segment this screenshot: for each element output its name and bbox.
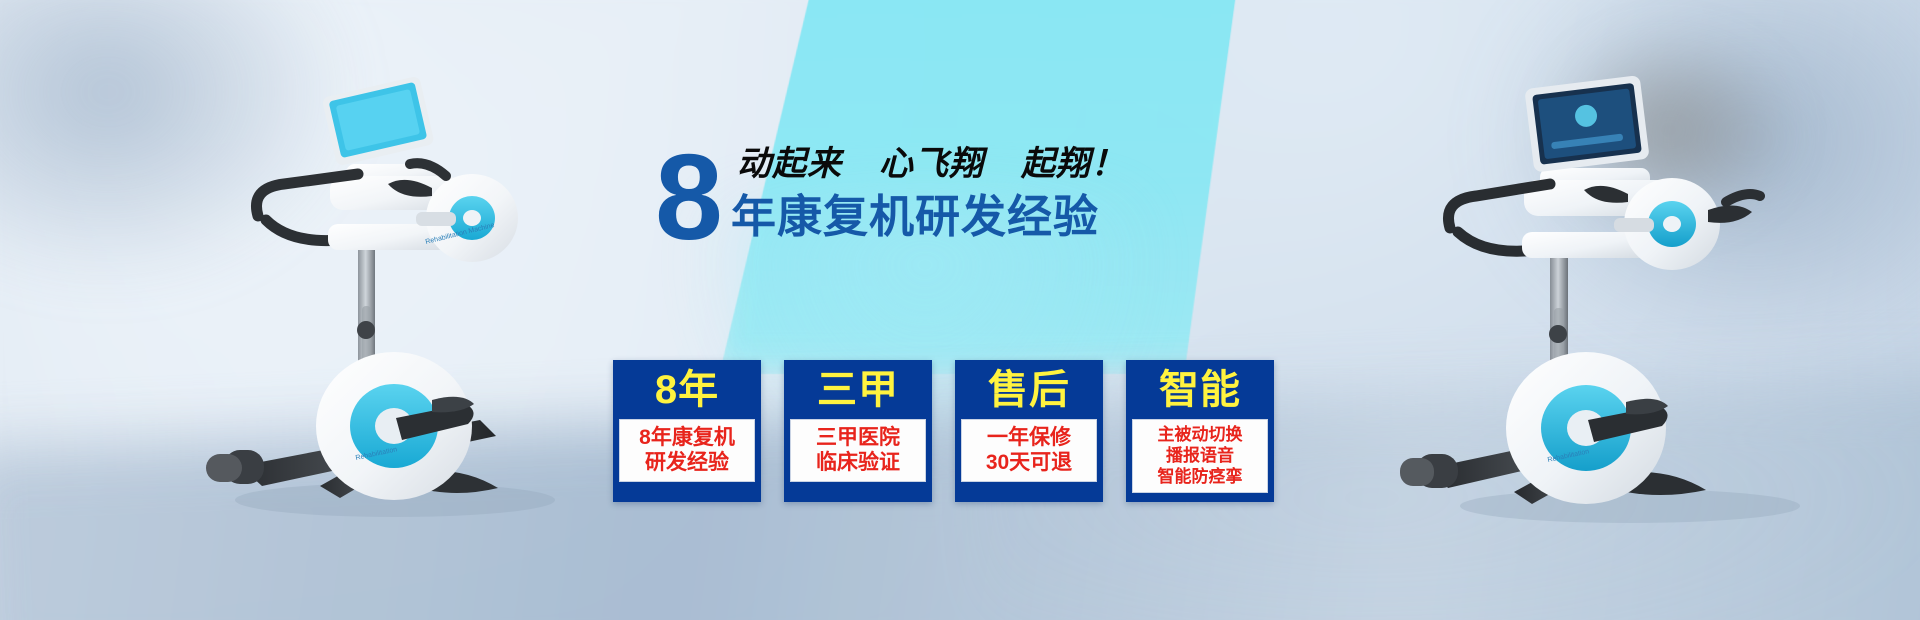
feature-line: 主被动切换 [1135, 424, 1265, 445]
feature-box-smart[interactable]: 智能 主被动切换 播报语音 智能防痉挛 [1126, 360, 1274, 502]
feature-line: 临床验证 [793, 450, 923, 475]
slogan-part-2: 心飞翔 [879, 145, 984, 183]
feature-line: 一年保修 [964, 425, 1094, 450]
feature-body: 8年康复机 研发经验 [619, 419, 755, 482]
feature-title: 三甲 [790, 366, 926, 414]
feature-line: 智能防痉挛 [1135, 466, 1265, 487]
feature-line: 30天可退 [964, 450, 1094, 475]
feature-box-aftersales[interactable]: 售后 一年保修 30天可退 [955, 360, 1103, 502]
feature-line: 研发经验 [622, 450, 752, 475]
feature-body: 主被动切换 播报语音 智能防痉挛 [1132, 419, 1268, 493]
feature-line: 三甲医院 [793, 425, 923, 450]
headline-block: 8 动起来 心飞翔 起翔！ 年康复机研发经验 [655, 138, 1075, 263]
promo-banner: Rehabilitation Rehabilitation Machine [0, 0, 1920, 620]
feature-title: 售后 [961, 366, 1097, 414]
product-rehab-bike-right: Rehabilitation Rehabilitation [1390, 68, 1860, 538]
feature-line: 播报语音 [1135, 445, 1265, 466]
feature-title: 8年 [619, 366, 755, 414]
product-rehab-bike-left: Rehabilitation Rehabilitation Machine [180, 68, 610, 528]
feature-body: 一年保修 30天可退 [961, 419, 1097, 482]
feature-box-years[interactable]: 8年 8年康复机 研发经验 [613, 360, 761, 502]
feature-box-hospital[interactable]: 三甲 三甲医院 临床验证 [784, 360, 932, 502]
slogan-part-1: 动起来 [737, 145, 842, 183]
headline-slogan: 动起来 心飞翔 起翔！ [737, 144, 1126, 184]
feature-box-row: 8年 8年康复机 研发经验 三甲 三甲医院 临床验证 售后 一年保修 30天可退… [613, 360, 1274, 502]
feature-line: 8年康复机 [622, 425, 752, 450]
headline-big-number: 8 [655, 140, 719, 255]
feature-body: 三甲医院 临床验证 [790, 419, 926, 482]
feature-title: 智能 [1132, 366, 1268, 414]
headline-main-line: 年康复机研发经验 [731, 190, 1099, 244]
slogan-part-3: 起翔！ [1021, 145, 1126, 183]
